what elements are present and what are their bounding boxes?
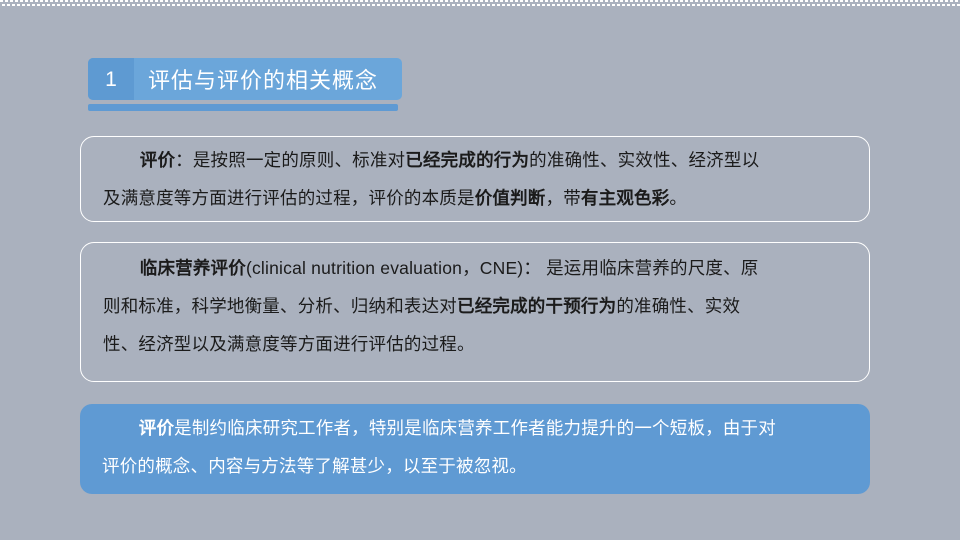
paragraph-line: 临床营养评价(clinical nutrition evaluation，CNE… [103, 249, 759, 287]
paragraph-line: 评价：是按照一定的原则、标准对已经完成的行为的准确性、实效性、经济型以 [103, 141, 759, 179]
body-text: 性、经济型以及满意度等方面进行评估的过程。 [103, 334, 475, 354]
emphasis-text: 临床营养评价 [140, 258, 246, 278]
body-text: 及满意度等方面进行评估的过程，评价的本质是 [103, 188, 475, 208]
paragraph-line: 性、经济型以及满意度等方面进行评估的过程。 [103, 325, 475, 363]
body-text: (clinical nutrition evaluation，CNE)： 是运用… [246, 258, 759, 278]
body-text: ，带 [546, 188, 581, 208]
title-underline-bar [88, 104, 398, 111]
paragraph-line: 评价是制约临床研究工作者，特别是临床营养工作者能力提升的一个短板，由于对 [102, 409, 776, 447]
body-text: 。 [669, 188, 687, 208]
emphasis-text: 评价 [140, 150, 175, 170]
body-text: 的准确性、实效性、经济型以 [529, 150, 759, 170]
highlight-box-conclusion: 评价是制约临床研究工作者，特别是临床营养工作者能力提升的一个短板，由于对评价的概… [80, 404, 870, 494]
paragraph-line: 评价的概念、内容与方法等了解甚少，以至于被忽视。 [102, 447, 527, 485]
emphasis-text: 已经完成的行为 [405, 150, 529, 170]
paragraph-line: 则和标准，科学地衡量、分析、归纳和表达对已经完成的干预行为的准确性、实效 [103, 287, 740, 325]
paragraph-line: 及满意度等方面进行评估的过程，评价的本质是价值判断，带有主观色彩。 [103, 179, 687, 217]
body-text: 评价的概念、内容与方法等了解甚少，以至于被忽视。 [102, 456, 527, 476]
definition-box-evaluation: 评价：是按照一定的原则、标准对已经完成的行为的准确性、实效性、经济型以及满意度等… [80, 136, 870, 222]
emphasis-text: 有主观色彩 [581, 188, 670, 208]
emphasis-text: 评价 [139, 418, 174, 438]
page-title: 评估与评价的相关概念 [134, 58, 402, 100]
body-text: 是制约临床研究工作者，特别是临床营养工作者能力提升的一个短板，由于对 [174, 418, 776, 438]
emphasis-text: 价值判断 [475, 188, 546, 208]
section-number-badge: 1 [88, 58, 134, 100]
body-text: ：是按照一定的原则、标准对 [175, 150, 405, 170]
body-text: 的准确性、实效 [616, 296, 740, 316]
definition-box-clinical-nutrition-evaluation: 临床营养评价(clinical nutrition evaluation，CNE… [80, 242, 870, 382]
emphasis-text: 已经完成的干预行为 [457, 296, 616, 316]
body-text: 则和标准，科学地衡量、分析、归纳和表达对 [103, 296, 457, 316]
slide-canvas: 1 评估与评价的相关概念 评价：是按照一定的原则、标准对已经完成的行为的准确性、… [0, 0, 960, 540]
section-title-block: 1 评估与评价的相关概念 [88, 58, 402, 100]
